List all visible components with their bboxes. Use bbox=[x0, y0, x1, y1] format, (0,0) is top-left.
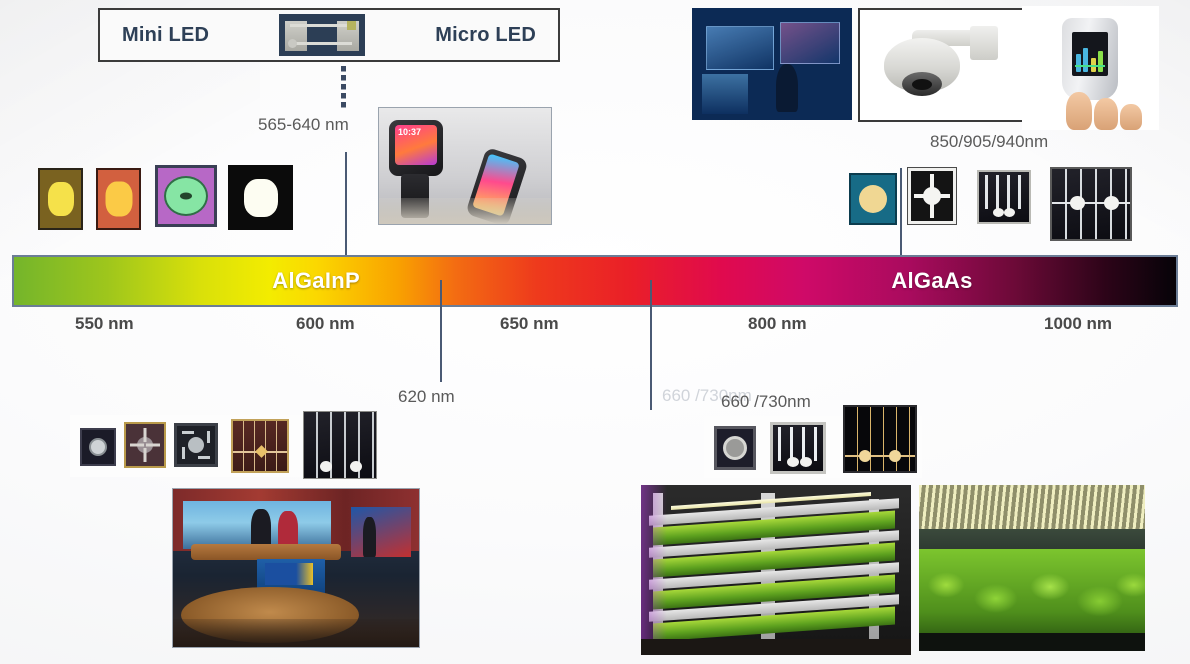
wavelength-spectrum-bar: AlGaInP AlGaAs bbox=[12, 255, 1178, 307]
solar-cell-chip bbox=[1050, 167, 1132, 241]
algaas-label: AlGaAs bbox=[891, 268, 972, 294]
callout-850-905-940-label: 850/905/940nm bbox=[930, 132, 1048, 152]
callout-620-line bbox=[440, 280, 442, 382]
tick-550nm: 550 nm bbox=[75, 314, 134, 334]
white-led-die bbox=[228, 165, 293, 230]
micro-led-label: Micro LED bbox=[435, 24, 536, 47]
mini-led-label: Mini LED bbox=[122, 24, 209, 47]
callout-660-730-label: 660 /730nm bbox=[721, 392, 811, 412]
dotted-connector-line bbox=[341, 66, 346, 108]
solar-chip-copper bbox=[231, 419, 289, 473]
star-electrode-chip-2 bbox=[124, 422, 166, 468]
amber-led-die bbox=[38, 168, 83, 230]
callout-565-640-label: 565-640 nm bbox=[258, 115, 349, 135]
solar-cell-chip-3 bbox=[843, 405, 917, 473]
tick-650nm: 650 nm bbox=[500, 314, 559, 334]
solar-cell-chip-2 bbox=[303, 411, 377, 479]
infographic-canvas: Mini LED Micro LED 565-640 nm 10:37 bbox=[0, 0, 1190, 664]
lettuce-grow-room-photo bbox=[919, 485, 1145, 651]
tick-800nm: 800 nm bbox=[748, 314, 807, 334]
ptz-security-camera-photo bbox=[858, 8, 1024, 122]
spectrum-segment-algainp: AlGaInP bbox=[14, 257, 618, 305]
tick-600nm: 600 nm bbox=[296, 314, 355, 334]
algainp-label: AlGaInP bbox=[272, 268, 360, 294]
tick-1000nm: 1000 nm bbox=[1044, 314, 1112, 334]
star-electrode-chip bbox=[908, 168, 956, 224]
callout-565-640-line bbox=[345, 152, 347, 257]
round-electrode-chip-3 bbox=[714, 426, 756, 470]
square-electrode-chip bbox=[174, 423, 218, 467]
led-chip-icon bbox=[279, 14, 365, 56]
smart-watch-wearables-photo: 10:37 bbox=[378, 107, 552, 225]
red-orange-led-die bbox=[96, 168, 141, 230]
round-electrode-chip bbox=[80, 428, 116, 466]
callout-660-730-line bbox=[650, 280, 652, 410]
infrared-led-die bbox=[849, 173, 897, 225]
callout-850-905-940-line bbox=[900, 168, 902, 257]
vertical-farm-racks-photo bbox=[641, 485, 911, 655]
fingertip-pulse-oximeter-photo bbox=[1022, 6, 1159, 130]
mini-micro-led-box: Mini LED Micro LED bbox=[98, 8, 560, 62]
green-led-die bbox=[155, 165, 217, 227]
spectrum-segment-algaas: AlGaAs bbox=[688, 257, 1176, 305]
bar-electrode-chip-2 bbox=[770, 422, 826, 474]
bar-electrode-chip bbox=[977, 170, 1031, 224]
callout-620-label: 620 nm bbox=[398, 387, 455, 407]
tv-news-studio-photo bbox=[172, 488, 420, 648]
hologram-display-photo bbox=[692, 8, 852, 120]
